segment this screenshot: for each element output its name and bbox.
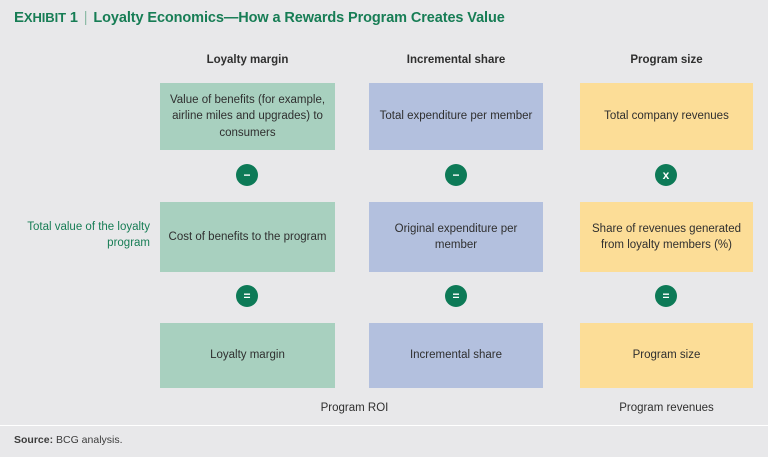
box-col1-row3: Loyalty margin <box>160 323 335 388</box>
exhibit-title-label-initial: E <box>14 9 24 26</box>
equals-operator-icon-col3: = <box>655 285 677 307</box>
box-col2-row3: Incremental share <box>369 323 543 388</box>
multiply-operator-icon-col3: x <box>655 164 677 186</box>
total-value-side-label: Total value of the loyalty program <box>10 219 150 252</box>
exhibit-title: EXHIBIT 1 | Loyalty Economics—How a Rewa… <box>14 9 505 26</box>
box-col3-row3: Program size <box>580 323 753 388</box>
result-label-program-revenues: Program revenues <box>580 402 753 414</box>
source-label: Source: <box>14 434 53 446</box>
column-header-incremental-share: Incremental share <box>369 54 543 66</box>
box-col2-row2: Original expenditure per member <box>369 202 543 272</box>
box-col3-row2: Share of revenues generated from loyalty… <box>580 202 753 272</box>
minus-operator-icon-col1: − <box>236 164 258 186</box>
minus-operator-icon-col2: − <box>445 164 467 186</box>
exhibit-title-label: EXHIBIT <box>14 10 66 25</box>
column-header-program-size: Program size <box>580 54 753 66</box>
box-col2-row1: Total expenditure per member <box>369 83 543 150</box>
source-note: Source: BCG analysis. <box>14 434 123 446</box>
exhibit-headline: Loyalty Economics—How a Rewards Program … <box>93 10 504 26</box>
box-col3-row1: Total company revenues <box>580 83 753 150</box>
column-header-loyalty-margin: Loyalty margin <box>160 54 335 66</box>
source-text: BCG analysis. <box>56 434 123 446</box>
equals-operator-icon-col2: = <box>445 285 467 307</box>
box-col1-row2: Cost of benefits to the program <box>160 202 335 272</box>
exhibit-title-label-rest: XHIBIT <box>24 10 66 25</box>
box-col1-row1: Value of benefits (for example, airline … <box>160 83 335 150</box>
exhibit-number: 1 <box>70 10 78 26</box>
result-label-program-roi: Program ROI <box>267 402 442 414</box>
equals-operator-icon-col1: = <box>236 285 258 307</box>
title-separator: | <box>82 10 90 26</box>
